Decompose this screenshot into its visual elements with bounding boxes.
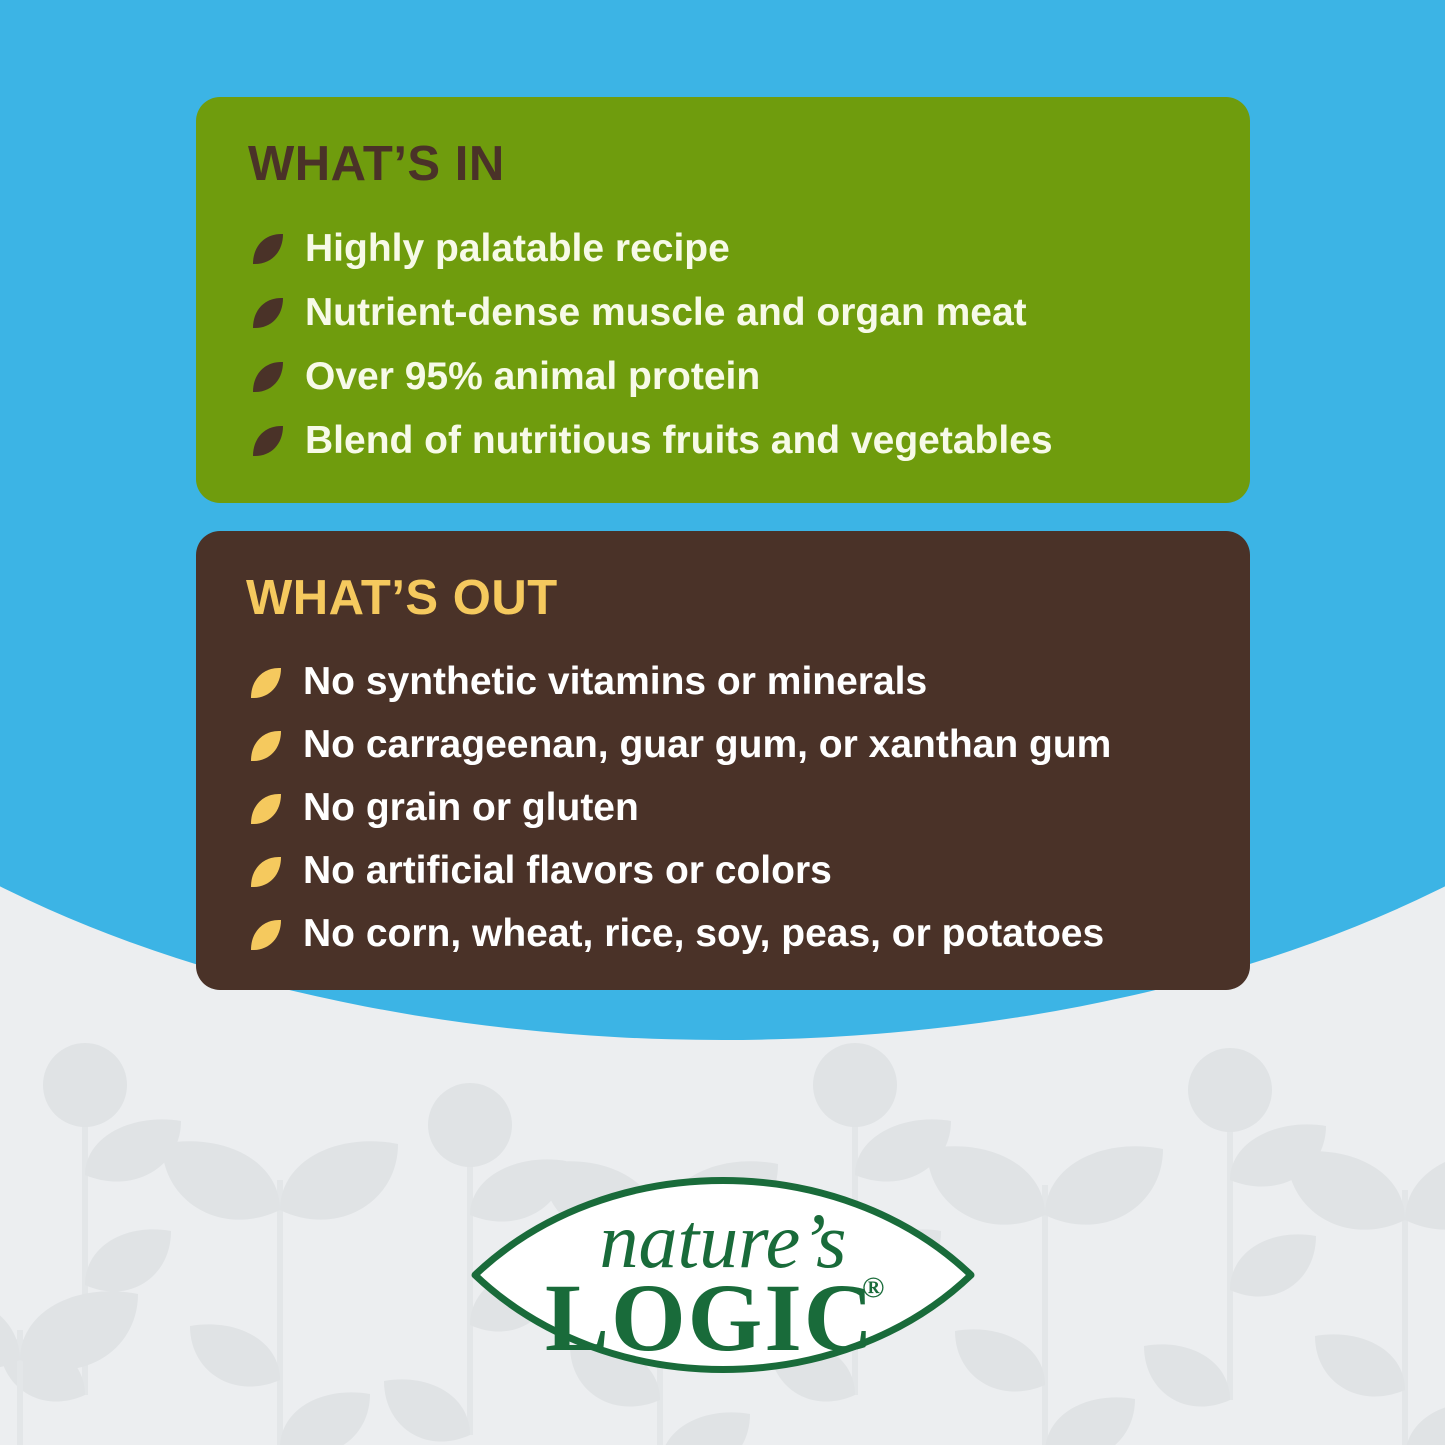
list-item: No synthetic vitamins or minerals — [246, 650, 1210, 713]
list-item-label: Nutrient-dense muscle and organ meat — [305, 293, 1027, 332]
leaf-icon — [248, 229, 288, 269]
whats-out-bullet-list: No synthetic vitamins or minerals No car… — [246, 650, 1210, 965]
list-item-label: No carrageenan, guar gum, or xanthan gum — [303, 725, 1111, 764]
leaf-icon — [246, 852, 286, 892]
whats-in-title: WHAT’S IN — [248, 139, 1210, 190]
whats-out-card: WHAT’S OUT No synthetic vitamins or mine… — [196, 531, 1250, 990]
list-item-label: Highly palatable recipe — [305, 229, 730, 268]
promo-graphic: WHAT’S IN Highly palatable recipe Nutrie… — [0, 0, 1445, 1445]
whats-in-card: WHAT’S IN Highly palatable recipe Nutrie… — [196, 97, 1250, 503]
leaf-icon — [246, 915, 286, 955]
leaf-icon — [248, 357, 288, 397]
logo-word-text: LOGIC — [545, 1264, 875, 1371]
whats-out-title: WHAT’S OUT — [246, 573, 1210, 624]
list-item-label: Over 95% animal protein — [305, 357, 760, 396]
list-item: No artificial flavors or colors — [246, 839, 1210, 902]
list-item: Highly palatable recipe — [248, 216, 1210, 280]
list-item: Over 95% animal protein — [248, 344, 1210, 408]
whats-in-bullet-list: Highly palatable recipe Nutrient-dense m… — [248, 216, 1210, 472]
list-item: No corn, wheat, rice, soy, peas, or pota… — [246, 902, 1210, 965]
list-item: Blend of nutritious fruits and vegetable… — [248, 408, 1210, 472]
list-item: No carrageenan, guar gum, or xanthan gum — [246, 713, 1210, 776]
list-item-label: No grain or gluten — [303, 788, 639, 827]
leaf-icon — [248, 293, 288, 333]
list-item: Nutrient-dense muscle and organ meat — [248, 280, 1210, 344]
leaf-icon — [246, 726, 286, 766]
list-item: No grain or gluten — [246, 776, 1210, 839]
list-item-label: No artificial flavors or colors — [303, 851, 832, 890]
brand-logo: nature’s LOGIC ® — [467, 1139, 979, 1411]
list-item-label: No synthetic vitamins or minerals — [303, 662, 927, 701]
list-item-label: No corn, wheat, rice, soy, peas, or pota… — [303, 914, 1104, 953]
leaf-icon — [248, 421, 288, 461]
registered-trademark-icon: ® — [862, 1271, 884, 1304]
leaf-icon — [246, 663, 286, 703]
leaf-icon — [246, 789, 286, 829]
list-item-label: Blend of nutritious fruits and vegetable… — [305, 421, 1053, 460]
